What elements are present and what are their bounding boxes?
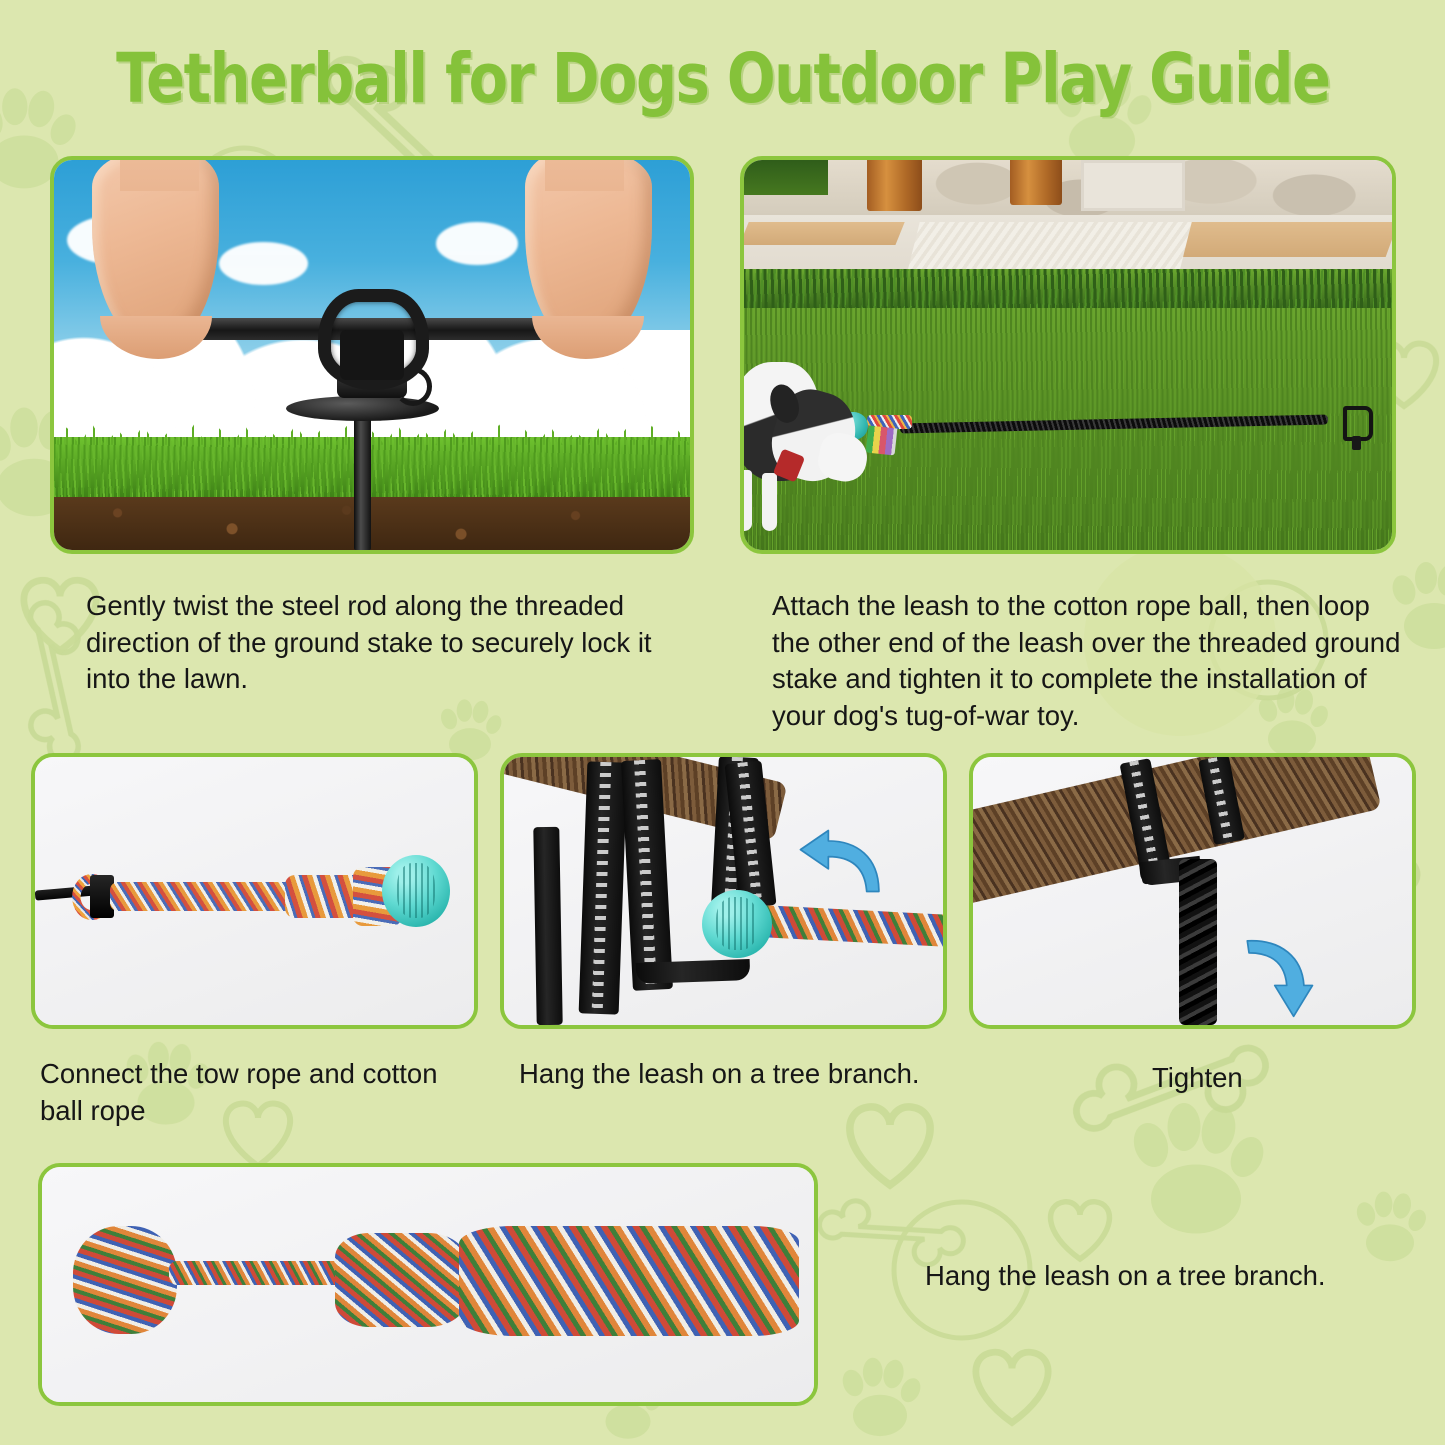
- steel-rod: [354, 406, 371, 550]
- rope-braided-body: [459, 1226, 799, 1336]
- leash-clip: [1343, 406, 1372, 441]
- page-title: Tetherball for Dogs Outdoor Play Guide: [116, 44, 1329, 112]
- nylon-strap-bottom-loop: [635, 959, 750, 984]
- curved-arrow-down-icon: [1236, 934, 1324, 1020]
- step-5-caption: Tighten: [1152, 1060, 1412, 1097]
- rope-cord: [169, 1261, 362, 1285]
- step-4-photo: [500, 753, 947, 1029]
- wood-post-right: [1010, 160, 1062, 205]
- grass-layer: [54, 437, 690, 499]
- teal-rubber-ball: [382, 855, 450, 927]
- step-1-photo: [50, 156, 694, 554]
- dog-leg: [762, 473, 776, 530]
- dog-leg: [744, 470, 752, 531]
- step-6-caption: Hang the leash on a tree branch.: [925, 1258, 1395, 1295]
- step-2-photo: [740, 156, 1396, 554]
- patio-border-right: [1165, 222, 1392, 257]
- patio-border-left: [744, 222, 904, 245]
- page-title-container: Tetherball for Dogs Outdoor Play Guide: [0, 44, 1445, 102]
- step-5-photo: [969, 753, 1416, 1029]
- black-twisted-rope: [1179, 859, 1216, 1025]
- left-hand: [92, 160, 219, 347]
- braided-rope: [110, 882, 294, 911]
- cloud: [219, 242, 308, 285]
- stone-house-wall: [744, 160, 1392, 219]
- curved-arrow-left-icon: [794, 827, 891, 897]
- step-3-photo: [31, 753, 478, 1029]
- background-shrub: [744, 160, 828, 195]
- rope-middle-knot: [335, 1233, 466, 1327]
- step-1-caption: Gently twist the steel rod along the thr…: [86, 588, 671, 698]
- right-forearm: [545, 160, 624, 191]
- nylon-strap-left-tail: [533, 826, 563, 1025]
- border-collie-dog: [744, 355, 874, 534]
- step-3-caption: Connect the tow rope and cotton ball rop…: [40, 1056, 470, 1129]
- teal-rubber-ball: [702, 890, 772, 958]
- handle-yoke-center: [340, 330, 404, 381]
- house-door: [1081, 160, 1185, 211]
- right-hand: [525, 160, 652, 347]
- rope-knot-ball: [73, 1226, 177, 1334]
- step-4-caption: Hang the leash on a tree branch.: [519, 1056, 959, 1093]
- step-6-photo: [38, 1163, 818, 1406]
- wood-post-left: [867, 160, 922, 211]
- left-forearm: [120, 160, 199, 191]
- soil-layer: [54, 497, 690, 550]
- step-2-caption: Attach the leash to the cotton rope ball…: [772, 588, 1402, 734]
- infographic-page: Tetherball for Dogs Outdoor Play Guide: [0, 0, 1445, 1445]
